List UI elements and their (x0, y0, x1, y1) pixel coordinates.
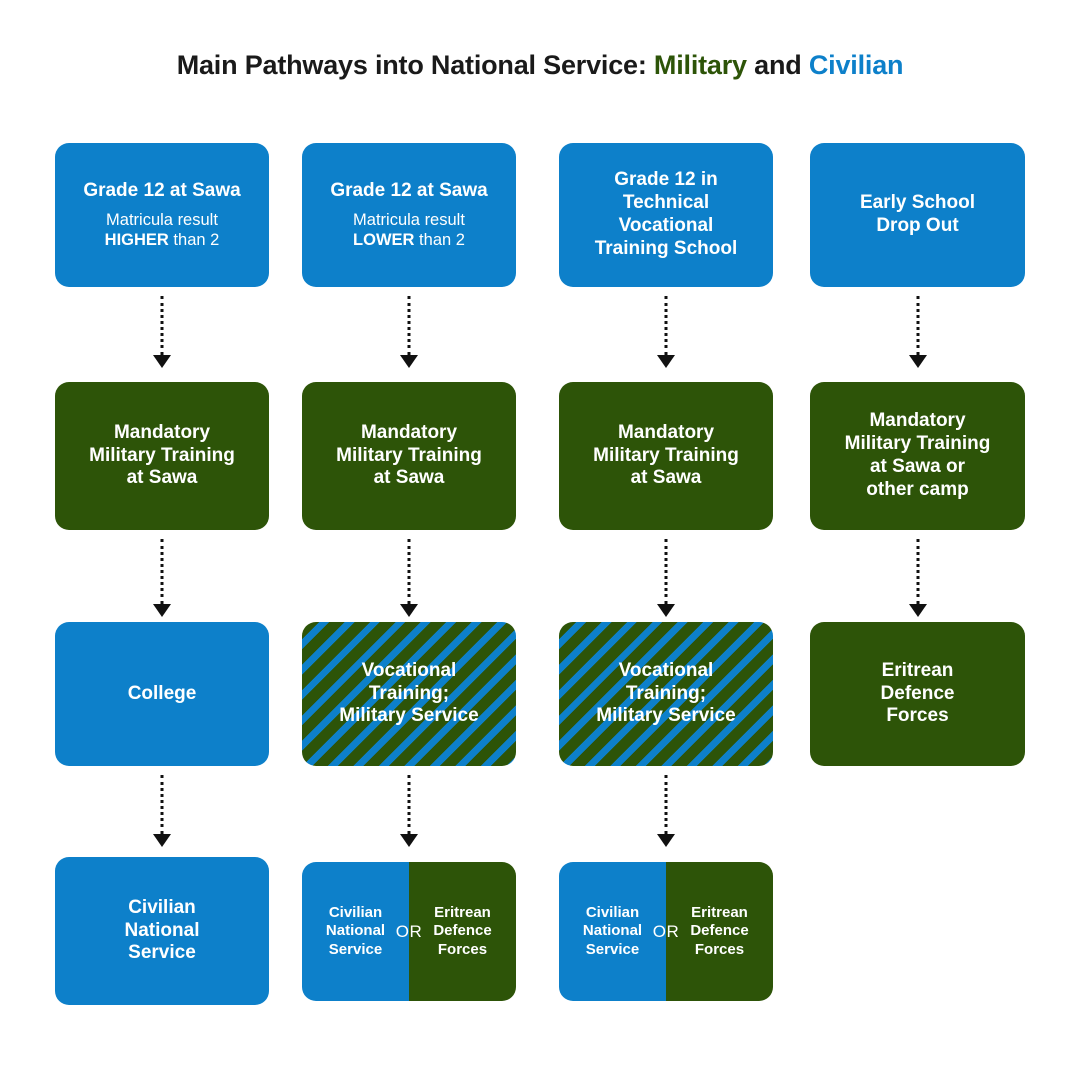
split-half-civilian[interactable]: Civilian National Service (302, 862, 409, 1001)
node-c3-mandatory-military-training-sawa[interactable]: Mandatory Military Training at Sawa (559, 382, 773, 530)
node-c2-civilian-service-or-defence-forces[interactable]: Civilian National Service Eritrean Defen… (302, 862, 516, 1001)
node-title-defence: Eritrean Defence Forces (690, 904, 748, 959)
node-title: Vocational Training; Military Service (339, 660, 478, 728)
node-title: Eritrean Defence Forces (881, 660, 955, 728)
split-half-civilian[interactable]: Civilian National Service (559, 862, 666, 1001)
node-subtitle-tail: than 2 (414, 231, 464, 249)
arrow-head-icon (153, 604, 171, 617)
arrow-c2-r2-r3 (389, 539, 429, 617)
arrow-c3-r1-r2 (646, 296, 686, 368)
node-title: Vocational Training; Military Service (596, 660, 735, 728)
node-title: Mandatory Military Training at Sawa (89, 422, 235, 490)
node-c2-grade12-sawa-lower[interactable]: Grade 12 at Sawa Matricula result LOWER … (302, 143, 516, 287)
arrow-stem (161, 296, 164, 355)
arrow-head-icon (153, 834, 171, 847)
node-c4-early-school-drop-out[interactable]: Early School Drop Out (810, 143, 1025, 287)
node-title: Mandatory Military Training at Sawa (593, 422, 739, 490)
arrow-head-icon (657, 834, 675, 847)
arrow-head-icon (400, 834, 418, 847)
arrow-c2-r1-r2 (389, 296, 429, 368)
arrow-c1-r1-r2 (142, 296, 182, 368)
arrow-c1-r2-r3 (142, 539, 182, 617)
node-c2-mandatory-military-training-sawa[interactable]: Mandatory Military Training at Sawa (302, 382, 516, 530)
arrow-c3-r2-r3 (646, 539, 686, 617)
arrow-stem (408, 539, 411, 604)
arrow-c4-r1-r2 (898, 296, 938, 368)
node-c2-vocational-training-military-service[interactable]: Vocational Training; Military Service (302, 622, 516, 766)
node-subtitle-strong: LOWER (353, 231, 414, 249)
node-title-defence: Eritrean Defence Forces (433, 904, 491, 959)
node-c3-vocational-training-military-service[interactable]: Vocational Training; Military Service (559, 622, 773, 766)
node-title-civilian: Civilian National Service (326, 904, 385, 959)
arrow-head-icon (909, 604, 927, 617)
arrow-stem (665, 539, 668, 604)
arrow-head-icon (153, 355, 171, 368)
node-subtitle: Matricula result HIGHER than 2 (105, 210, 220, 250)
arrow-head-icon (909, 355, 927, 368)
arrow-stem (408, 296, 411, 355)
node-subtitle-tail: than 2 (169, 231, 219, 249)
split-half-defence[interactable]: Eritrean Defence Forces (409, 862, 516, 1001)
node-subtitle-line1: Matricula result (353, 211, 465, 229)
node-subtitle: Matricula result LOWER than 2 (353, 210, 465, 250)
node-title-civilian: Civilian National Service (583, 904, 642, 959)
node-c1-civilian-national-service[interactable]: Civilian National Service (55, 857, 269, 1005)
node-title: College (128, 683, 197, 706)
node-title: Grade 12 at Sawa (83, 180, 240, 203)
arrow-c3-r3-r4 (646, 775, 686, 847)
arrow-head-icon (657, 355, 675, 368)
node-c1-grade12-sawa-higher[interactable]: Grade 12 at Sawa Matricula result HIGHER… (55, 143, 269, 287)
arrow-c4-r2-r3 (898, 539, 938, 617)
node-c3-grade12-technical-vocational[interactable]: Grade 12 in Technical Vocational Trainin… (559, 143, 773, 287)
node-c3-civilian-service-or-defence-forces[interactable]: Civilian National Service Eritrean Defen… (559, 862, 773, 1001)
arrow-stem (917, 539, 920, 604)
arrow-stem (408, 775, 411, 834)
node-c1-college[interactable]: College (55, 622, 269, 766)
arrow-stem (917, 296, 920, 355)
arrow-stem (665, 775, 668, 834)
node-title: Civilian National Service (125, 897, 200, 965)
node-subtitle-line1: Matricula result (106, 211, 218, 229)
node-title: Early School Drop Out (860, 192, 975, 238)
node-title: Mandatory Military Training at Sawa or o… (845, 410, 991, 501)
arrow-head-icon (400, 604, 418, 617)
arrow-stem (161, 539, 164, 604)
node-c4-eritrean-defence-forces[interactable]: Eritrean Defence Forces (810, 622, 1025, 766)
arrow-c1-r3-r4 (142, 775, 182, 847)
arrow-head-icon (400, 355, 418, 368)
arrow-stem (161, 775, 164, 834)
node-c1-mandatory-military-training-sawa[interactable]: Mandatory Military Training at Sawa (55, 382, 269, 530)
node-title: Mandatory Military Training at Sawa (336, 422, 482, 490)
arrow-stem (665, 296, 668, 355)
arrow-head-icon (657, 604, 675, 617)
node-subtitle-strong: HIGHER (105, 231, 169, 249)
flowchart-canvas: Grade 12 at Sawa Matricula result HIGHER… (0, 0, 1080, 1080)
arrow-c2-r3-r4 (389, 775, 429, 847)
node-title: Grade 12 in Technical Vocational Trainin… (595, 169, 738, 260)
node-title: Grade 12 at Sawa (330, 180, 487, 203)
split-half-defence[interactable]: Eritrean Defence Forces (666, 862, 773, 1001)
node-c4-mandatory-military-training-sawa-or-other-camp[interactable]: Mandatory Military Training at Sawa or o… (810, 382, 1025, 530)
